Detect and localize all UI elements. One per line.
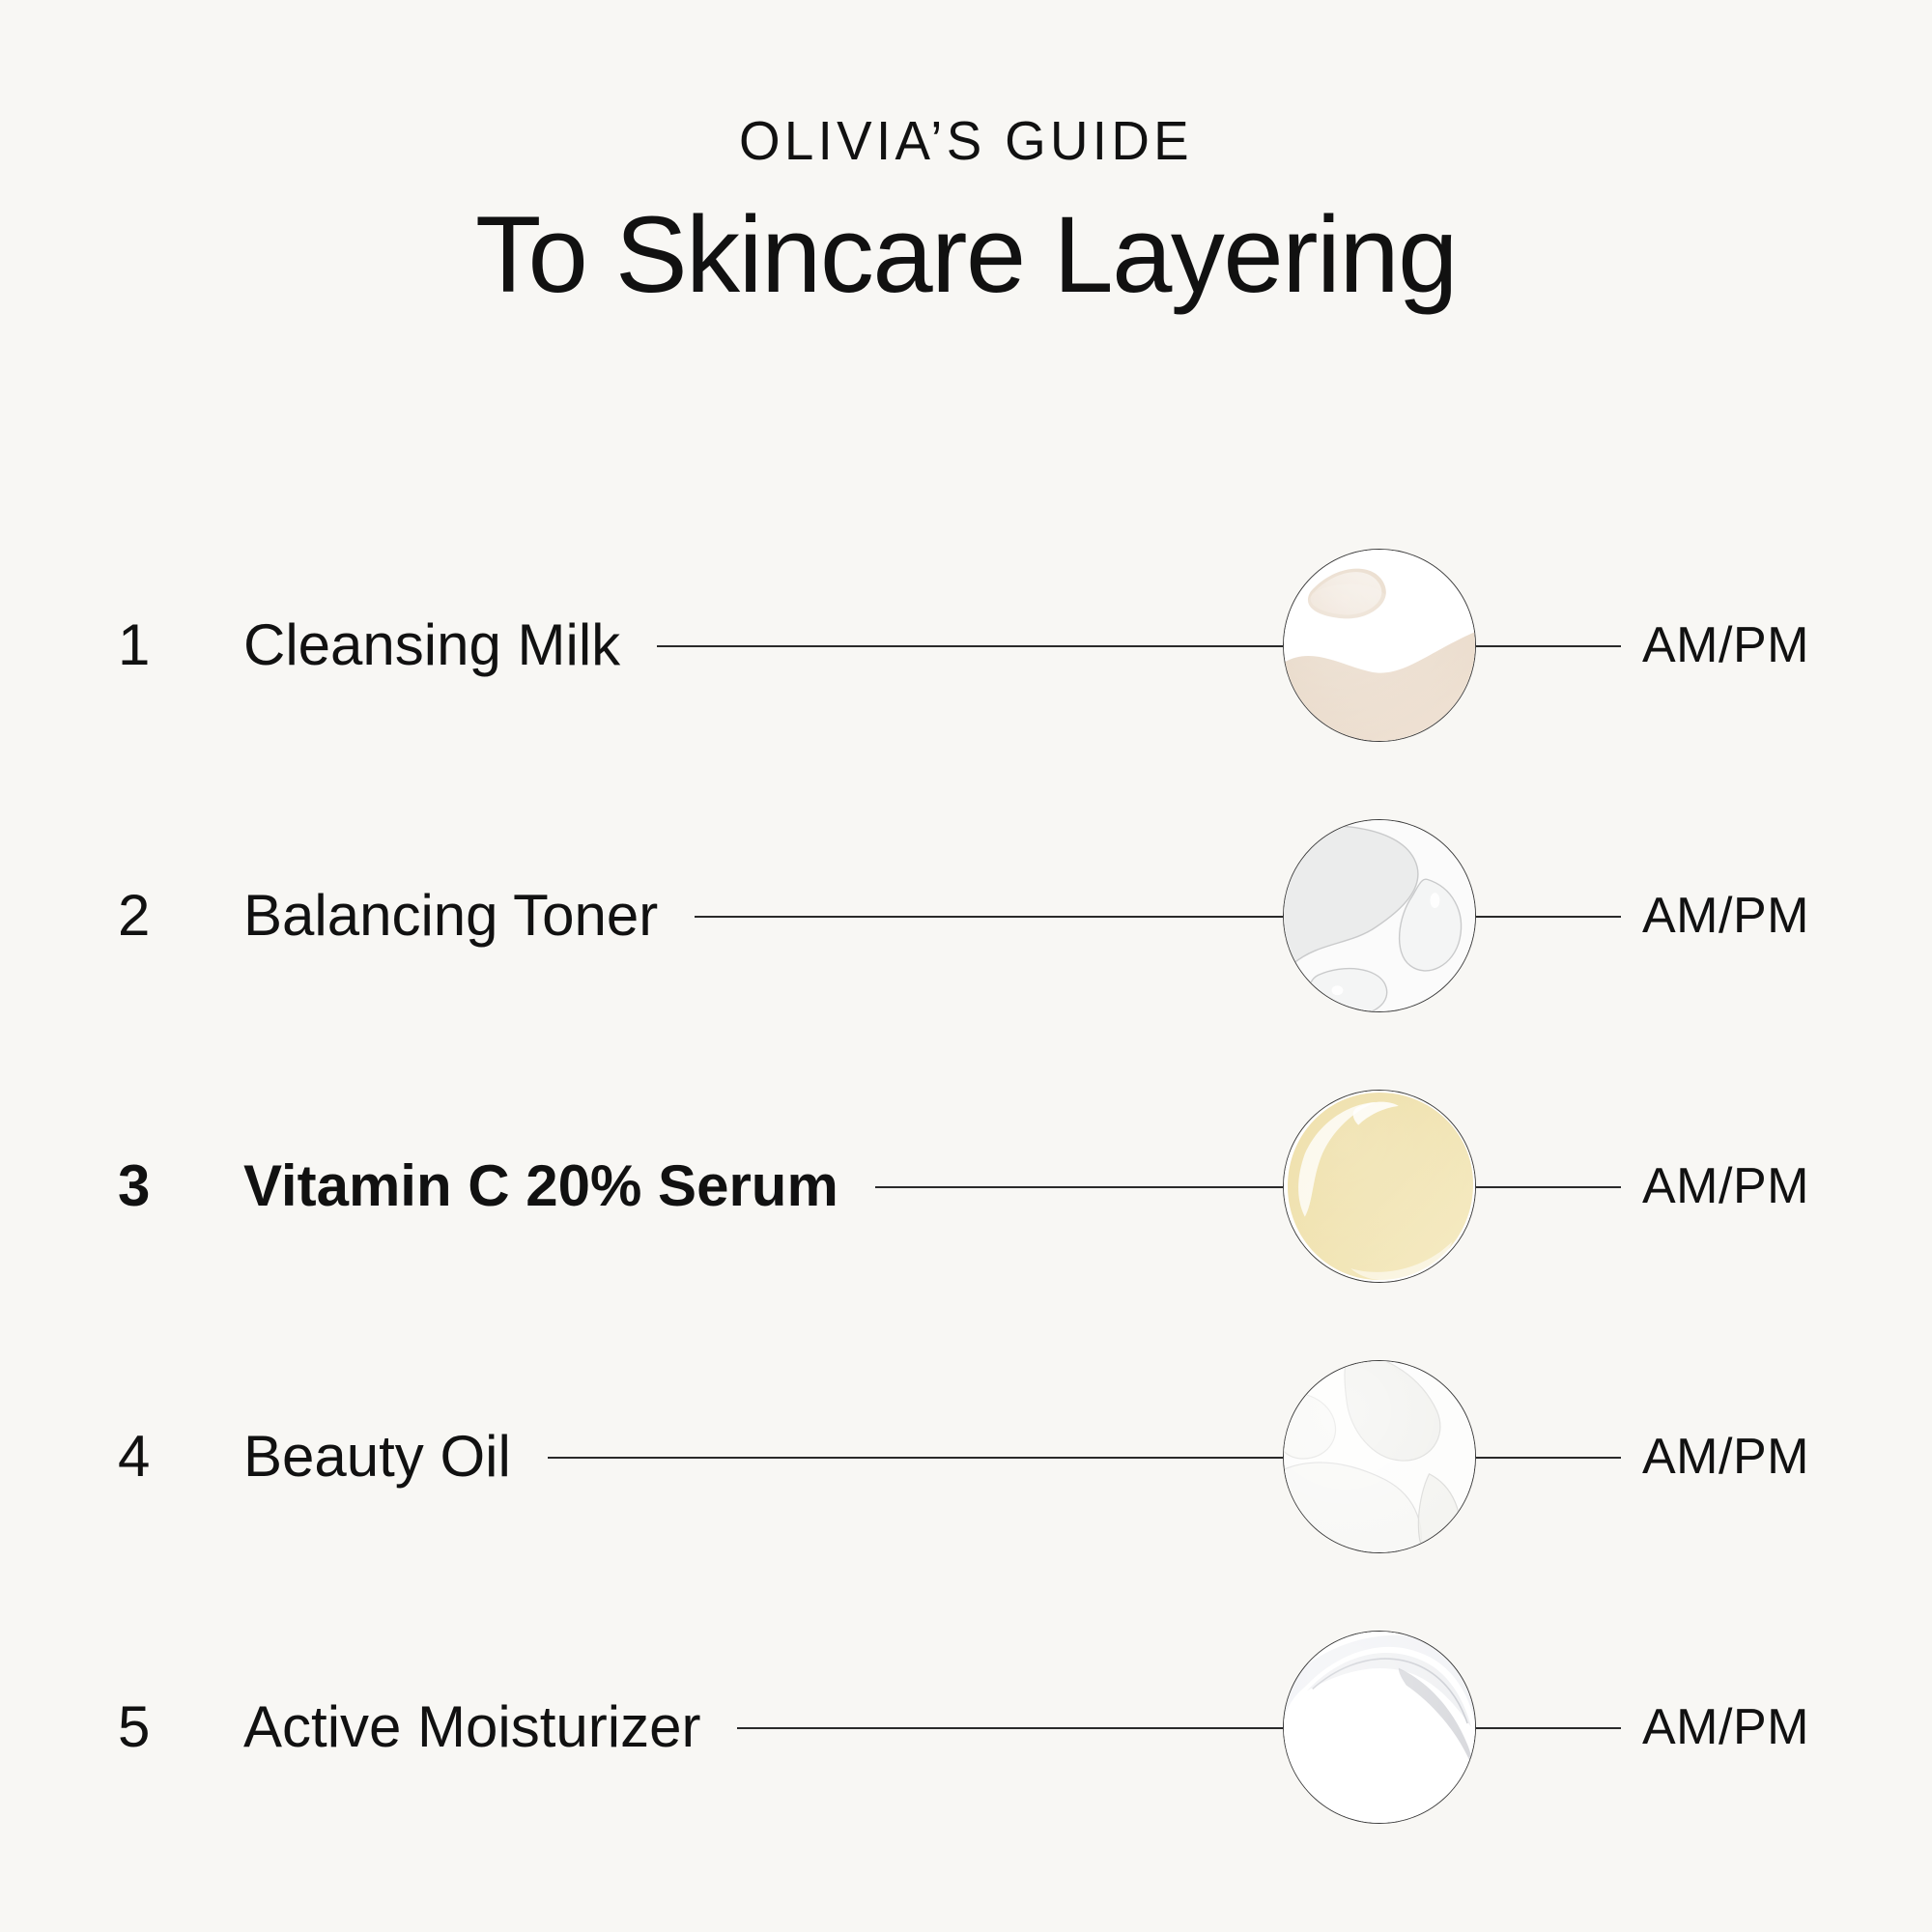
eyebrow-text: OLIVIA’S GUIDE [39, 114, 1893, 169]
connector-line-right [1476, 645, 1621, 647]
steps-list: 1Cleansing Milk AM/PM2Balancing Toner [0, 510, 1932, 1862]
step-number: 3 [118, 1157, 150, 1215]
skincare-layering-infographic: OLIVIA’S GUIDE To Skincare Layering 1Cle… [0, 0, 1932, 1932]
connector-line-right [1476, 1186, 1621, 1188]
connector-line-left [737, 1727, 1283, 1729]
step-row: 4Beauty Oil AM/PM [0, 1321, 1932, 1592]
step-number: 2 [118, 887, 150, 945]
page-title: To Skincare Layering [0, 194, 1932, 315]
usage-label: AM/PM [1642, 1161, 1809, 1211]
connector-line-right [1476, 1457, 1621, 1459]
usage-label: AM/PM [1642, 891, 1809, 941]
balancing-toner-swatch [1283, 819, 1476, 1012]
connector-line-left [695, 916, 1283, 918]
step-row: 2Balancing Toner AM/PM [0, 781, 1932, 1051]
step-row: 3Vitamin C 20% Serum AM/PM [0, 1051, 1932, 1321]
usage-label: AM/PM [1642, 620, 1809, 670]
usage-label: AM/PM [1642, 1432, 1809, 1482]
step-number: 1 [118, 616, 150, 674]
step-number: 5 [118, 1698, 150, 1756]
step-row: 1Cleansing Milk AM/PM [0, 510, 1932, 781]
beauty-oil-swatch [1283, 1360, 1476, 1553]
cleansing-milk-swatch [1283, 549, 1476, 742]
step-row: 5Active Moisturizer AM/PM [0, 1592, 1932, 1862]
step-name: Cleansing Milk [243, 616, 620, 674]
step-number: 4 [118, 1428, 150, 1486]
vitamin-c-serum-swatch [1283, 1090, 1476, 1283]
connector-line-left [548, 1457, 1283, 1459]
step-name: Vitamin C 20% Serum [243, 1157, 838, 1215]
active-moisturizer-swatch [1283, 1631, 1476, 1824]
connector-line-left [657, 645, 1283, 647]
connector-line-right [1476, 1727, 1621, 1729]
connector-line-right [1476, 916, 1621, 918]
step-name: Active Moisturizer [243, 1698, 700, 1756]
connector-line-left [875, 1186, 1283, 1188]
usage-label: AM/PM [1642, 1702, 1809, 1752]
step-name: Balancing Toner [243, 887, 658, 945]
header: OLIVIA’S GUIDE To Skincare Layering [0, 114, 1932, 315]
step-name: Beauty Oil [243, 1428, 511, 1486]
